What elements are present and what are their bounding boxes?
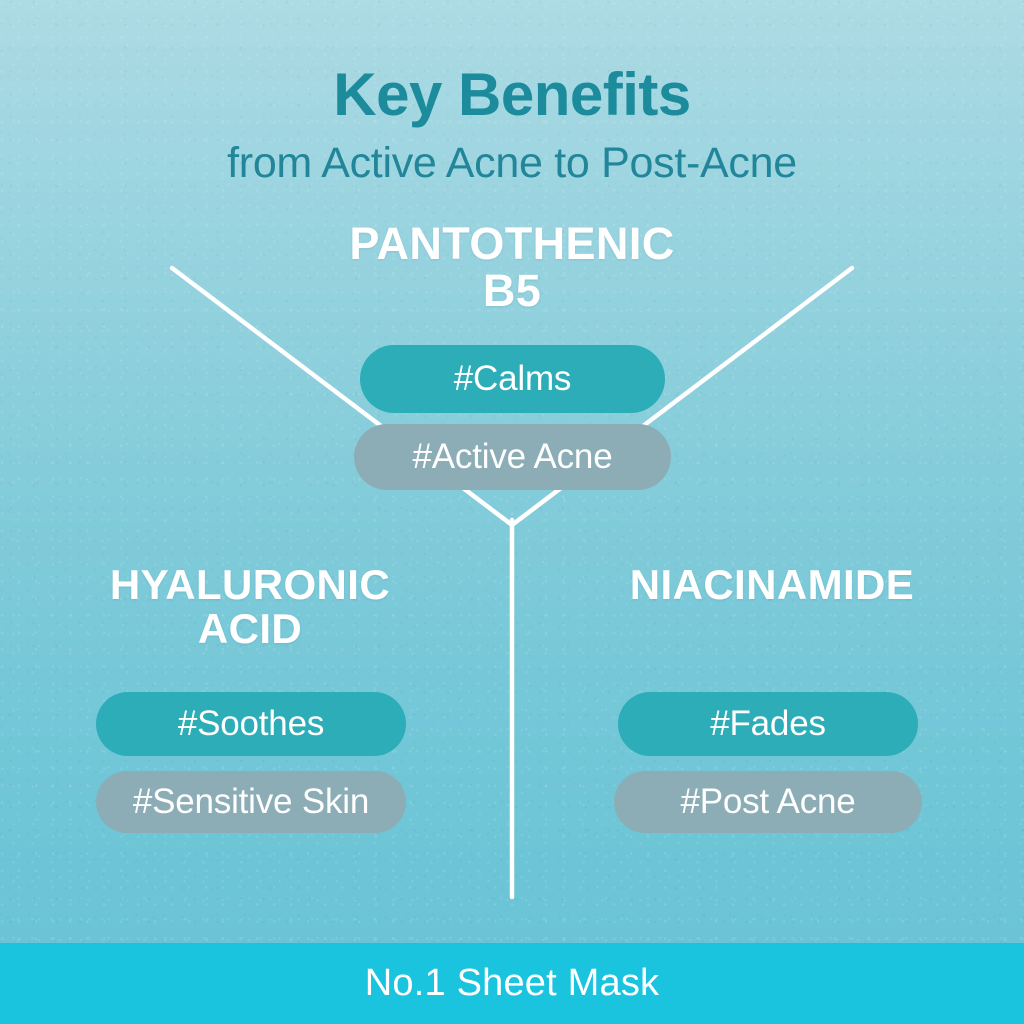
ingredient-title-niacinamide: NIACINAMIDE: [552, 563, 992, 607]
ingredient-title-pantothenic-b5: PANTOTHENIC B5: [0, 220, 1024, 315]
ingredient-name-line-1: NIACINAMIDE: [552, 563, 992, 607]
concern-tag-sensitive-skin[interactable]: #Sensitive Skin: [96, 771, 406, 833]
concern-tag-active-acne[interactable]: #Active Acne: [354, 424, 671, 490]
ingredient-name-line-1: PANTOTHENIC: [0, 220, 1024, 267]
page-title: Key Benefits: [0, 63, 1024, 126]
ingredient-name-line-2: ACID: [30, 607, 470, 651]
footer-text: No.1 Sheet Mask: [365, 962, 659, 1005]
footer-banner: No.1 Sheet Mask: [0, 943, 1024, 1024]
ingredient-title-hyaluronic-acid: HYALURONIC ACID: [30, 563, 470, 651]
benefit-tag-fades[interactable]: #Fades: [618, 692, 918, 756]
page-subtitle: from Active Acne to Post-Acne: [0, 140, 1024, 187]
benefits-infographic: Key Benefits from Active Acne to Post-Ac…: [0, 0, 1024, 1024]
ingredient-name-line-1: HYALURONIC: [30, 563, 470, 607]
benefit-tag-calms[interactable]: #Calms: [360, 345, 665, 413]
concern-tag-post-acne[interactable]: #Post Acne: [614, 771, 922, 833]
ingredient-name-line-2: B5: [0, 267, 1024, 314]
benefit-tag-soothes[interactable]: #Soothes: [96, 692, 406, 756]
